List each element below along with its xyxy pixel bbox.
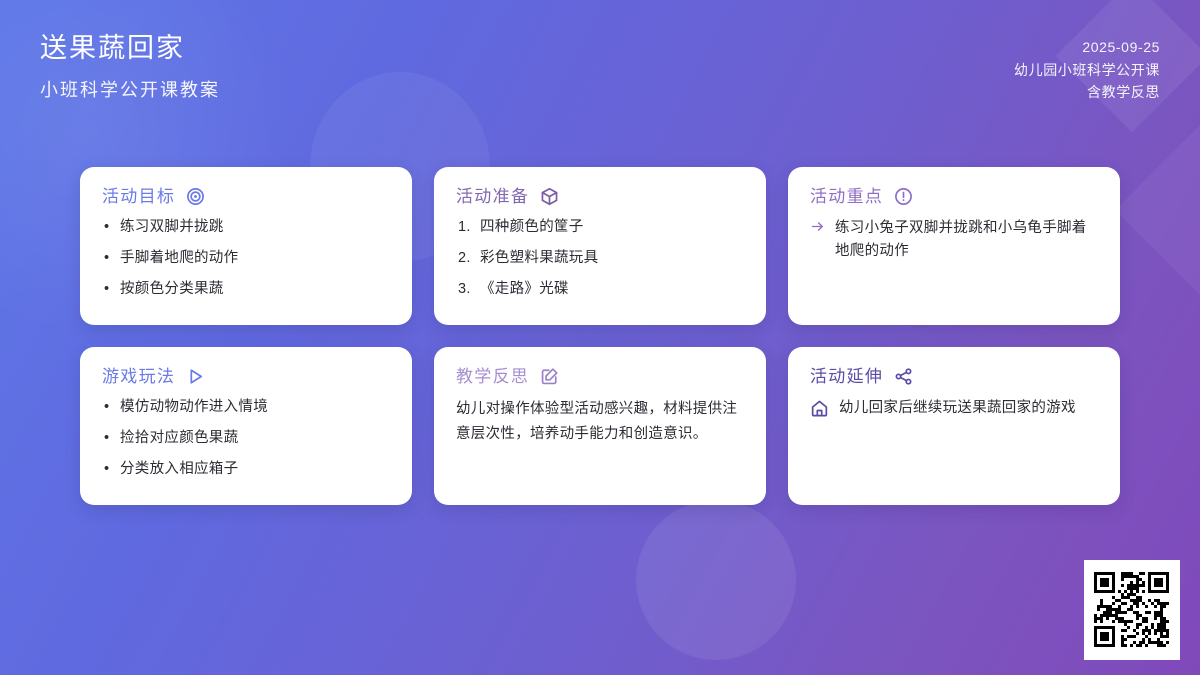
list-item: 幼儿回家后继续玩送果蔬回家的游戏 — [810, 397, 1098, 420]
edit-square-icon — [540, 367, 559, 386]
list-item-label: 幼儿回家后继续玩送果蔬回家的游戏 — [839, 397, 1076, 420]
list-item: •模仿动物动作进入情境 — [104, 397, 390, 418]
card-numbered-list: 1.四种颜色的筐子2.彩色塑料果蔬玩具3.《走路》光碟 — [456, 217, 744, 300]
card-header: 教学反思 — [456, 367, 744, 386]
list-item-label: 捡拾对应颜色果蔬 — [120, 428, 238, 449]
card-header: 活动准备 — [456, 187, 744, 206]
list-item-label: 《走路》光碟 — [480, 279, 569, 300]
list-item: •分类放入相应箱子 — [104, 459, 390, 480]
list-item-label: 分类放入相应箱子 — [120, 459, 238, 480]
list-number-marker: 2. — [458, 248, 480, 269]
home-icon — [810, 399, 829, 418]
list-item-label: 按颜色分类果蔬 — [120, 279, 224, 300]
arrow-right-icon — [810, 219, 825, 234]
card-title: 活动准备 — [456, 188, 529, 205]
card-activity-key-point: 活动重点练习小兔子双脚并拢跳和小乌龟手脚着地爬的动作 — [788, 167, 1120, 325]
list-item: •手脚着地爬的动作 — [104, 248, 390, 269]
list-item: •捡拾对应颜色果蔬 — [104, 428, 390, 449]
list-item: 2.彩色塑料果蔬玩具 — [458, 248, 744, 269]
play-triangle-icon — [186, 367, 205, 386]
card-header: 游戏玩法 — [102, 367, 390, 386]
bullet-dot-icon: • — [104, 217, 120, 238]
share-nodes-icon — [894, 367, 913, 386]
list-item: •练习双脚并拢跳 — [104, 217, 390, 238]
background-diamond-right — [1115, 125, 1200, 295]
list-item: 3.《走路》光碟 — [458, 279, 744, 300]
card-grid: 活动目标•练习双脚并拢跳•手脚着地爬的动作•按颜色分类果蔬活动准备1.四种颜色的… — [80, 167, 1120, 505]
bullet-dot-icon: • — [104, 279, 120, 300]
list-item-label: 彩色塑料果蔬玩具 — [480, 248, 598, 269]
list-item-label: 手脚着地爬的动作 — [120, 248, 238, 269]
card-title: 游戏玩法 — [102, 368, 175, 385]
list-number-marker: 3. — [458, 279, 480, 300]
page-subtitle: 小班科学公开课教案 — [40, 79, 220, 102]
list-number-marker: 1. — [458, 217, 480, 238]
target-icon — [186, 187, 205, 206]
card-activity-preparation: 活动准备1.四种颜色的筐子2.彩色塑料果蔬玩具3.《走路》光碟 — [434, 167, 766, 325]
bullet-dot-icon: • — [104, 428, 120, 449]
exclamation-circle-icon — [894, 187, 913, 206]
list-item: 练习小兔子双脚并拢跳和小乌龟手脚着地爬的动作 — [810, 217, 1098, 263]
card-game-rules: 游戏玩法•模仿动物动作进入情境•捡拾对应颜色果蔬•分类放入相应箱子 — [80, 347, 412, 505]
meta-note: 含教学反思 — [1014, 81, 1160, 104]
header-meta: 2025-09-25 幼儿园小班科学公开课 含教学反思 — [1014, 36, 1160, 104]
list-item-label: 练习双脚并拢跳 — [120, 217, 224, 238]
card-paragraph: 幼儿对操作体验型活动感兴趣，材料提供注意层次性，培养动手能力和创造意识。 — [456, 397, 744, 447]
card-bullet-list: •练习双脚并拢跳•手脚着地爬的动作•按颜色分类果蔬 — [102, 217, 390, 300]
meta-date: 2025-09-25 — [1014, 36, 1160, 59]
card-header: 活动目标 — [102, 187, 390, 206]
card-activity-goal: 活动目标•练习双脚并拢跳•手脚着地爬的动作•按颜色分类果蔬 — [80, 167, 412, 325]
bullet-dot-icon: • — [104, 397, 120, 418]
list-item-label: 四种颜色的筐子 — [480, 217, 584, 238]
meta-course: 幼儿园小班科学公开课 — [1014, 59, 1160, 82]
list-item-label: 模仿动物动作进入情境 — [120, 397, 268, 418]
page-title: 送果蔬回家 — [40, 32, 220, 66]
card-activity-extension: 活动延伸幼儿回家后继续玩送果蔬回家的游戏 — [788, 347, 1120, 505]
slide-root: 送果蔬回家 小班科学公开课教案 2025-09-25 幼儿园小班科学公开课 含教… — [0, 0, 1200, 675]
card-teaching-reflection: 教学反思幼儿对操作体验型活动感兴趣，材料提供注意层次性，培养动手能力和创造意识。 — [434, 347, 766, 505]
card-title: 活动延伸 — [810, 368, 883, 385]
list-item: 1.四种颜色的筐子 — [458, 217, 744, 238]
list-item: •按颜色分类果蔬 — [104, 279, 390, 300]
package-icon — [540, 187, 559, 206]
card-title: 活动目标 — [102, 188, 175, 205]
background-circle-bottom — [636, 500, 796, 660]
card-bullet-list: •模仿动物动作进入情境•捡拾对应颜色果蔬•分类放入相应箱子 — [102, 397, 390, 480]
bullet-dot-icon: • — [104, 248, 120, 269]
card-header: 活动重点 — [810, 187, 1098, 206]
card-title: 活动重点 — [810, 188, 883, 205]
slide-header: 送果蔬回家 小班科学公开课教案 2025-09-25 幼儿园小班科学公开课 含教… — [0, 0, 1200, 140]
card-header: 活动延伸 — [810, 367, 1098, 386]
card-title: 教学反思 — [456, 368, 529, 385]
bullet-dot-icon: • — [104, 459, 120, 480]
qr-code[interactable] — [1084, 560, 1180, 660]
title-block: 送果蔬回家 小班科学公开课教案 — [40, 32, 220, 102]
list-item-label: 练习小兔子双脚并拢跳和小乌龟手脚着地爬的动作 — [835, 217, 1098, 263]
